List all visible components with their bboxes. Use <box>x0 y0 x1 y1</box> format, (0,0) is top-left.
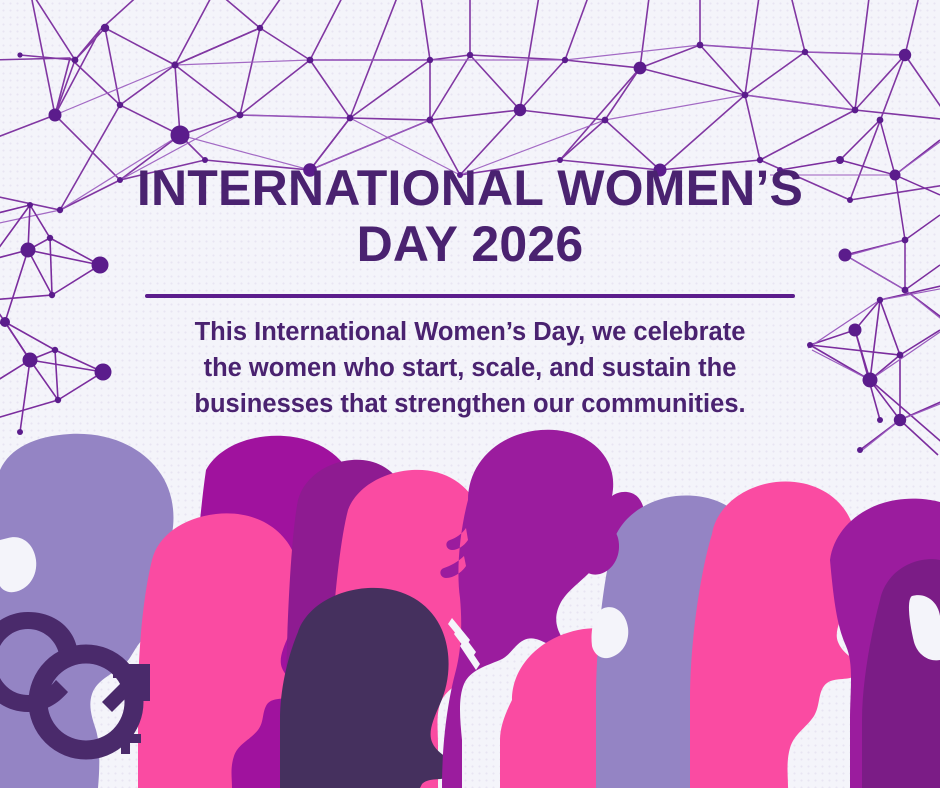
women-profile-silhouettes <box>0 0 940 788</box>
silhouette-figure-pink-right <box>690 481 859 788</box>
silhouette-figure-dark-center <box>280 588 455 788</box>
poster-canvas: INTERNATIONAL WOMEN’S DAY 2026 This Inte… <box>0 0 940 788</box>
